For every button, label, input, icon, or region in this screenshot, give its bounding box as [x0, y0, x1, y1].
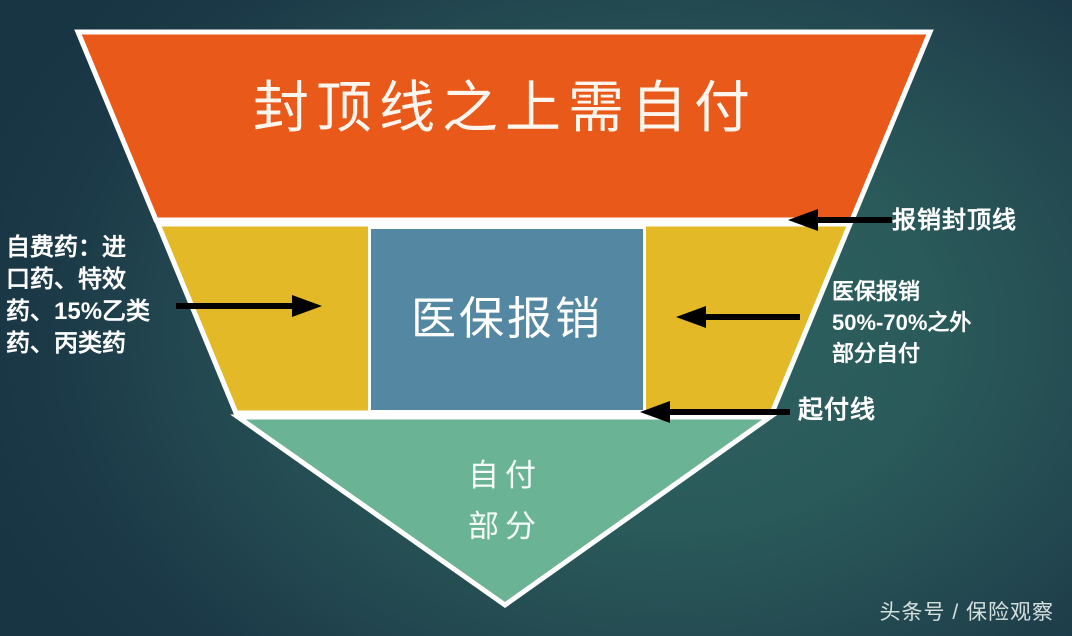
self-pay-label-line1: 自付: [430, 450, 580, 501]
annotation-self-funded-drugs: 自费药：进 口药、特效 药、15%乙类 药、丙类药: [6, 232, 178, 361]
reimbursement-box: 医保报销: [368, 226, 646, 413]
reimbursement-box-label: 医保报销: [411, 297, 603, 342]
slide-headline: 封顶线之上需自付: [0, 79, 1010, 141]
slide-canvas: 封顶线之上需自付 医保报销 自付 部分 自费药：进 口药、特效 药、15%乙类 …: [0, 0, 1072, 636]
annotation-deductible: 起付线: [798, 394, 876, 428]
self-pay-label: 自付 部分: [430, 450, 580, 552]
annotation-coinsurance: 医保报销 50%-70%之外 部分自付: [832, 276, 1042, 370]
annotation-cap-line: 报销封顶线: [892, 205, 1017, 237]
watermark: 头条号 / 保险观察: [879, 596, 1054, 626]
self-pay-label-line2: 部分: [430, 501, 580, 552]
